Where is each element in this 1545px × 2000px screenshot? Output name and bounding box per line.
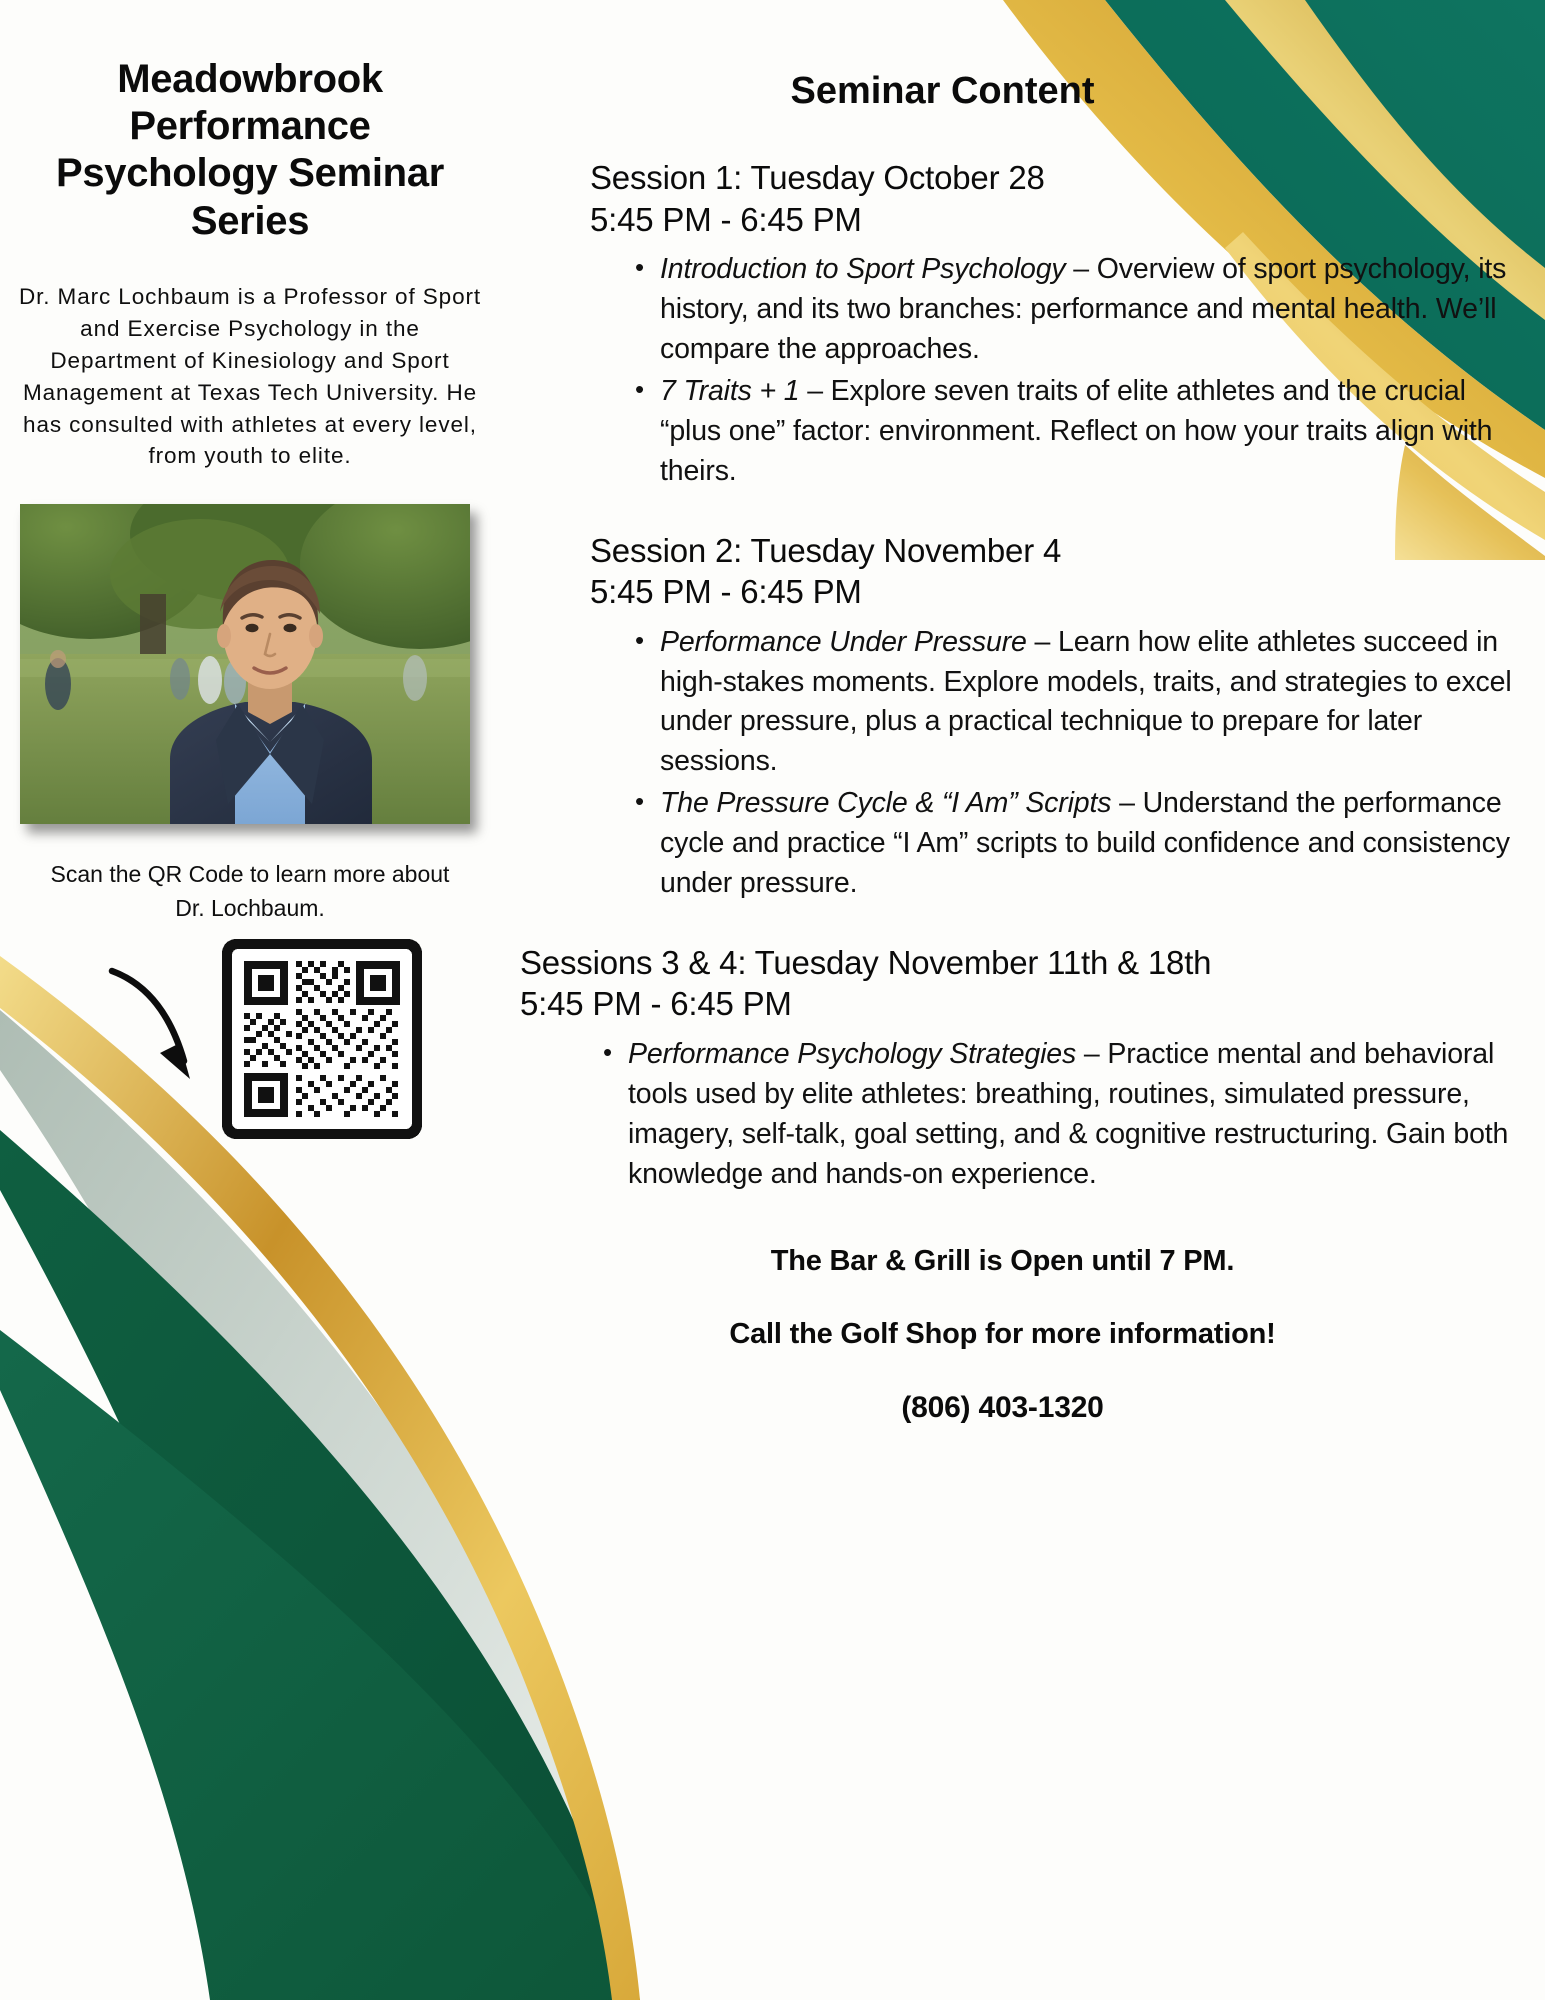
session-3-heading: Sessions 3 & 4: Tuesday November 11th & … xyxy=(510,942,1515,1025)
bullet-term: The Pressure Cycle & “I Am” Scripts xyxy=(660,787,1111,819)
qr-caption: Scan the QR Code to learn more about Dr.… xyxy=(34,858,466,925)
footer: The Bar & Grill is Open until 7 PM. Call… xyxy=(510,1245,1515,1425)
speaker-headshot xyxy=(20,504,470,824)
session-block-1: Session 1: Tuesday October 28 5:45 PM - … xyxy=(510,157,1515,492)
session-2-title: Session 2: Tuesday November 4 xyxy=(590,530,1515,572)
qr-row xyxy=(0,939,500,1139)
session-block-2: Session 2: Tuesday November 4 5:45 PM - … xyxy=(510,530,1515,904)
session-1-bullets: Introduction to Sport Psychology – Overv… xyxy=(510,250,1515,491)
speaker-bio: Dr. Marc Lochbaum is a Professor of Spor… xyxy=(18,281,482,473)
list-item: Performance Under Pressure – Learn how e… xyxy=(510,623,1515,783)
qr-code-icon[interactable] xyxy=(222,939,422,1139)
portrait-photo xyxy=(20,504,470,824)
left-column: Meadowbrook Performance Psychology Semin… xyxy=(0,0,500,1139)
session-3-title: Sessions 3 & 4: Tuesday November 11th & … xyxy=(520,942,1515,984)
bullet-term: Performance Under Pressure xyxy=(660,626,1027,658)
session-1-time: 5:45 PM - 6:45 PM xyxy=(590,199,1515,241)
bullet-term: Performance Psychology Strategies xyxy=(628,1038,1076,1070)
bullet-term: 7 Traits + 1 xyxy=(660,375,799,407)
session-2-time: 5:45 PM - 6:45 PM xyxy=(590,571,1515,613)
session-1-heading: Session 1: Tuesday October 28 5:45 PM - … xyxy=(510,157,1515,240)
bar-grill-hours: The Bar & Grill is Open until 7 PM. xyxy=(550,1245,1455,1278)
call-golf-shop-line: Call the Golf Shop for more information! xyxy=(550,1318,1455,1351)
flyer-page: Meadowbrook Performance Psychology Semin… xyxy=(0,0,1545,2000)
session-block-3: Sessions 3 & 4: Tuesday November 11th & … xyxy=(510,942,1515,1195)
curved-arrow-icon xyxy=(98,961,218,1091)
session-1-title: Session 1: Tuesday October 28 xyxy=(590,157,1515,199)
page-title: Meadowbrook Performance Psychology Semin… xyxy=(0,56,500,245)
bullet-term: Introduction to Sport Psychology xyxy=(660,253,1066,285)
list-item: The Pressure Cycle & “I Am” Scripts – Un… xyxy=(510,784,1515,904)
list-item: Performance Psychology Strategies – Prac… xyxy=(510,1035,1515,1195)
session-3-bullets: Performance Psychology Strategies – Prac… xyxy=(510,1035,1515,1195)
seminar-content-title: Seminar Content xyxy=(510,70,1515,113)
phone-number[interactable]: (806) 403-1320 xyxy=(550,1391,1455,1425)
session-2-bullets: Performance Under Pressure – Learn how e… xyxy=(510,623,1515,904)
list-item: 7 Traits + 1 – Explore seven traits of e… xyxy=(510,372,1515,492)
right-column: Seminar Content Session 1: Tuesday Octob… xyxy=(500,0,1545,1425)
session-3-time: 5:45 PM - 6:45 PM xyxy=(520,983,1515,1025)
list-item: Introduction to Sport Psychology – Overv… xyxy=(510,250,1515,370)
session-2-heading: Session 2: Tuesday November 4 5:45 PM - … xyxy=(510,530,1515,613)
